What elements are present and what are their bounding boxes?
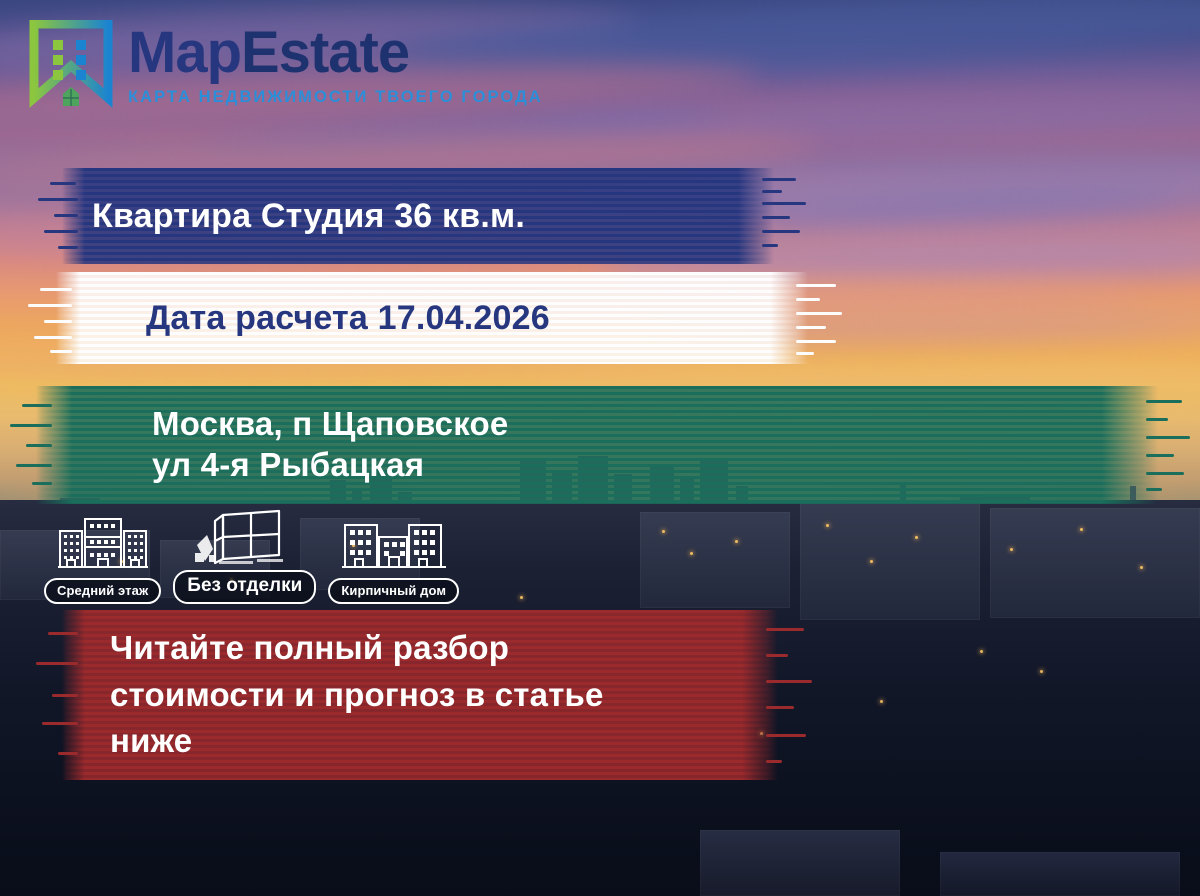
logo-title-estate: Estate: [241, 20, 409, 85]
logo-title: MapEstate: [128, 24, 543, 82]
address-line-2: ул 4-я Рыбацкая: [152, 446, 508, 485]
apartment-banner-text: Квартира Студия 36 кв.м.: [92, 196, 525, 236]
logo-title-map: Map: [128, 20, 241, 85]
promo-card: MapEstate КАРТА НЕДВИЖИМОСТИ ТВОЕГО ГОРО…: [0, 0, 1200, 896]
feature-bez-otdelki[interactable]: Без отделки: [173, 505, 316, 604]
feature-label: Кирпичный дом: [328, 578, 459, 604]
cta-banner: Читайте полный разбор стоимости и прогно…: [62, 610, 778, 780]
feature-label: Средний этаж: [44, 578, 161, 604]
cta-line-1: Читайте полный разбор: [110, 625, 604, 672]
apartment-banner: Квартира Студия 36 кв.м.: [62, 168, 774, 264]
logo-tagline: КАРТА НЕДВИЖИМОСТИ ТВОЕГО ГОРОДА: [128, 88, 543, 107]
brand-logo[interactable]: MapEstate КАРТА НЕДВИЖИМОСТИ ТВОЕГО ГОРО…: [28, 20, 543, 112]
calculation-date-text: Дата расчета 17.04.2026: [146, 298, 550, 338]
brick-apartment-building-icon: [339, 513, 449, 575]
calculation-date-banner: Дата расчета 17.04.2026: [56, 272, 808, 364]
cta-banner-text: Читайте полный разбор стоимости и прогно…: [110, 625, 604, 766]
multi-storey-building-icon: [55, 513, 151, 575]
feature-kirpichnyj-dom[interactable]: Кирпичный дом: [328, 513, 459, 604]
logo-wordmark: MapEstate КАРТА НЕДВИЖИМОСТИ ТВОЕГО ГОРО…: [128, 24, 543, 107]
cta-line-2: стоимости и прогноз в статье: [110, 672, 604, 719]
feature-badges: Средний этаж: [44, 505, 459, 604]
cta-line-3: ниже: [110, 718, 604, 765]
address-banner: Москва, п Щаповское ул 4-я Рыбацкая: [36, 386, 1158, 504]
bookmark-building-icon: [28, 20, 114, 112]
feature-label: Без отделки: [173, 570, 316, 604]
address-banner-text: Москва, п Щаповское ул 4-я Рыбацкая: [152, 403, 508, 487]
address-line-1: Москва, п Щаповское: [152, 405, 508, 444]
unfinished-room-icon: [193, 505, 297, 567]
feature-srednij-etazh[interactable]: Средний этаж: [44, 513, 161, 604]
